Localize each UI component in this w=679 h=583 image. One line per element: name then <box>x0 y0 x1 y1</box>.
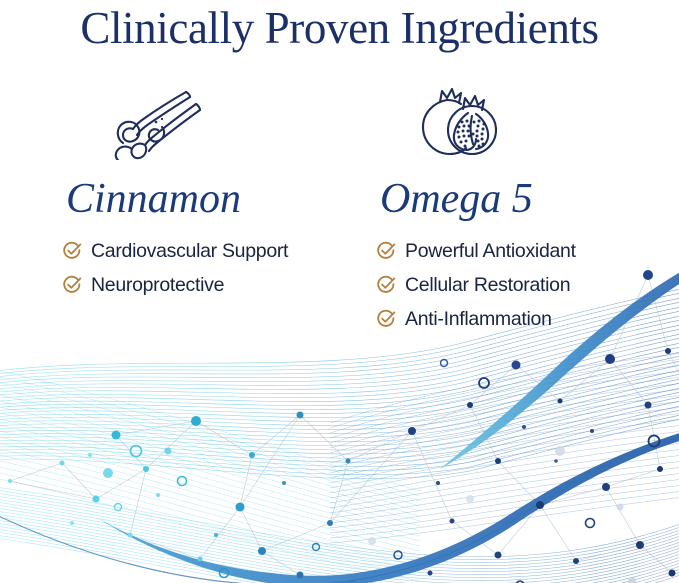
benefit-item: Powerful Antioxidant <box>376 234 672 268</box>
benefit-item: Cellular Restoration <box>376 268 672 302</box>
ingredient-column-omega5: Omega 5 Powerful Antioxidant <box>372 86 672 336</box>
cinnamon-sticks-icon <box>40 86 360 164</box>
check-circle-icon <box>376 309 396 329</box>
infographic-canvas: Clinically Proven Ingredients <box>0 0 679 583</box>
check-circle-icon <box>62 275 82 295</box>
benefit-label: Cardiovascular Support <box>91 240 288 262</box>
ingredient-name-cinnamon: Cinnamon <box>40 176 360 222</box>
pomegranate-icon <box>372 86 672 164</box>
check-circle-icon <box>376 241 396 261</box>
benefit-label: Powerful Antioxidant <box>405 240 576 262</box>
benefit-list-cinnamon: Cardiovascular Support Neuroprotective <box>40 234 360 302</box>
check-circle-icon <box>62 241 82 261</box>
check-circle-icon <box>376 275 396 295</box>
benefit-label: Neuroprotective <box>91 274 224 296</box>
benefit-label: Anti-Inflammation <box>405 308 552 330</box>
benefit-item: Neuroprotective <box>62 268 360 302</box>
benefit-item: Cardiovascular Support <box>62 234 360 268</box>
ingredient-name-omega5: Omega 5 <box>372 176 672 222</box>
benefit-item: Anti-Inflammation <box>376 302 672 336</box>
benefit-label: Cellular Restoration <box>405 274 570 296</box>
benefit-list-omega5: Powerful Antioxidant Cellular Restoratio… <box>372 234 672 336</box>
ingredient-column-cinnamon: Cinnamon Cardiovascular Support <box>40 86 360 302</box>
page-title: Clinically Proven Ingredients <box>0 2 679 54</box>
